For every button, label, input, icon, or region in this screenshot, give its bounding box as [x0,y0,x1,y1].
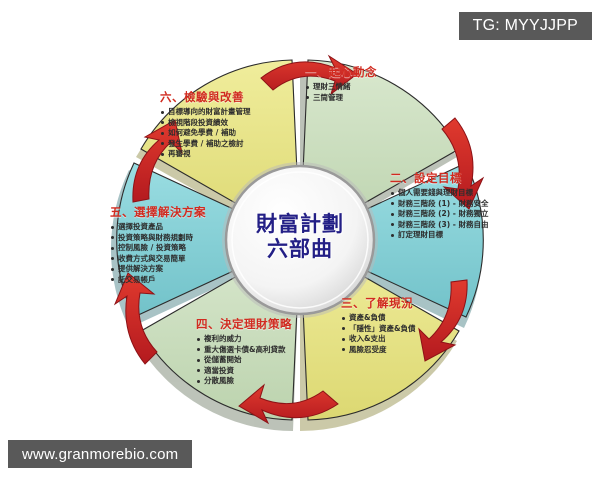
wealth-plan-wheel [55,30,545,450]
telegram-watermark-badge: TG: MYYJJPP [459,12,592,40]
website-watermark-badge: www.granmorebio.com [8,440,192,468]
wheel-hub [222,162,378,318]
diagram-canvas: 財富計劃 六部曲 一、起心動念 理財三情緒 三筒管理 二、設定目標 個人需要錢與… [0,0,600,480]
